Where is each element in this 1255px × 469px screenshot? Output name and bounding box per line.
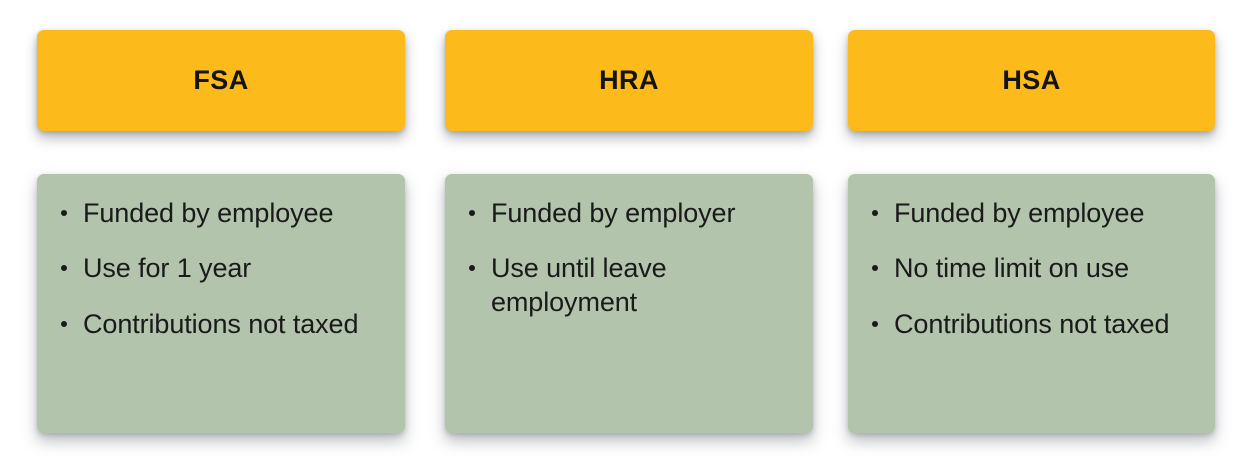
bullet-dot-icon: [61, 321, 67, 327]
bullet-dot-icon: [61, 265, 67, 271]
body-box-hsa: Funded by employee No time limit on use …: [848, 174, 1215, 433]
list-item: Use for 1 year: [57, 252, 387, 285]
list-item-label: Contributions not taxed: [894, 308, 1197, 341]
header-label-hra: HRA: [599, 67, 659, 94]
bullet-dot-icon: [469, 265, 475, 271]
bullet-list-fsa: Funded by employee Use for 1 year Contri…: [57, 197, 387, 341]
list-item-label: Funded by employee: [894, 197, 1197, 230]
list-item-label: Funded by employee: [83, 197, 387, 230]
header-label-hsa: HSA: [1002, 67, 1060, 94]
list-item: Funded by employee: [57, 197, 387, 230]
body-box-fsa: Funded by employee Use for 1 year Contri…: [37, 174, 405, 433]
bullet-dot-icon: [469, 210, 475, 216]
comparison-column-fsa: FSA Funded by employee Use for 1 year Co…: [37, 0, 405, 469]
header-label-fsa: FSA: [193, 67, 248, 94]
list-item-label: No time limit on use: [894, 252, 1197, 285]
list-item-label: Use for 1 year: [83, 252, 387, 285]
bullet-dot-icon: [872, 265, 878, 271]
header-box-hsa: HSA: [848, 30, 1215, 131]
list-item: Contributions not taxed: [57, 308, 387, 341]
comparison-column-hra: HRA Funded by employer Use until leave e…: [445, 0, 813, 469]
comparison-column-hsa: HSA Funded by employee No time limit on …: [848, 0, 1215, 469]
list-item-label: Contributions not taxed: [83, 308, 387, 341]
header-box-fsa: FSA: [37, 30, 405, 131]
list-item: Funded by employer: [465, 197, 795, 230]
bullet-list-hsa: Funded by employee No time limit on use …: [868, 197, 1197, 341]
bullet-dot-icon: [872, 321, 878, 327]
list-item: Contributions not taxed: [868, 308, 1197, 341]
list-item-label: Use until leave employment: [491, 252, 795, 319]
body-box-hra: Funded by employer Use until leave emplo…: [445, 174, 813, 433]
list-item: Funded by employee: [868, 197, 1197, 230]
list-item: No time limit on use: [868, 252, 1197, 285]
list-item: Use until leave employment: [465, 252, 795, 319]
comparison-diagram: FSA Funded by employee Use for 1 year Co…: [0, 0, 1255, 469]
list-item-label: Funded by employer: [491, 197, 795, 230]
bullet-list-hra: Funded by employer Use until leave emplo…: [465, 197, 795, 319]
header-box-hra: HRA: [445, 30, 813, 131]
bullet-dot-icon: [872, 210, 878, 216]
bullet-dot-icon: [61, 210, 67, 216]
